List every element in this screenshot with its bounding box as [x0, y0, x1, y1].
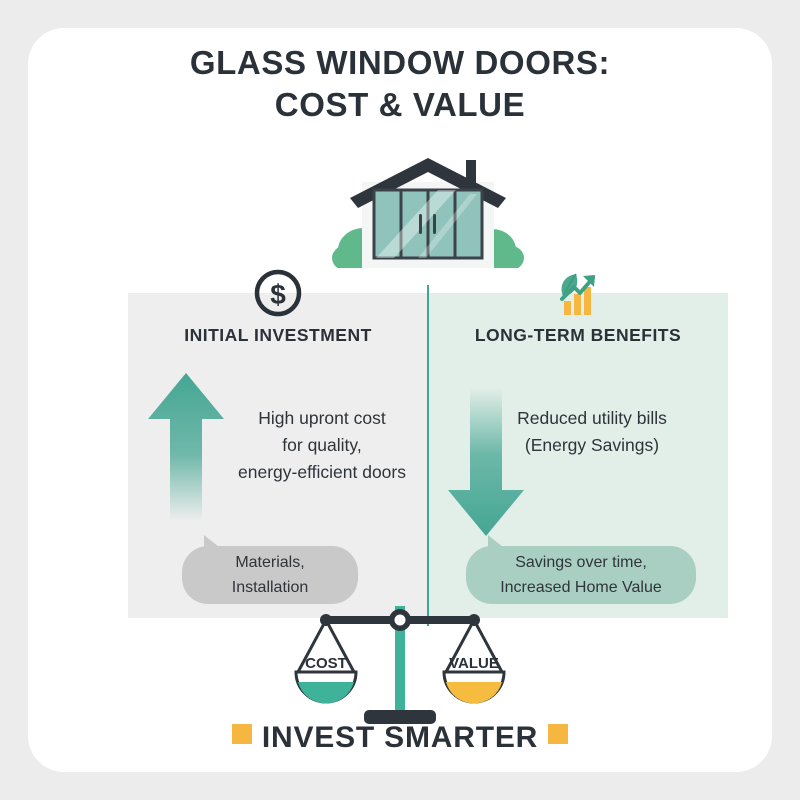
title-line-1: GLASS WINDOW DOORS: [28, 42, 772, 84]
dollar-circle-icon: $ [250, 265, 306, 321]
bubble-line: Increased Home Value [500, 579, 662, 596]
bubble-text: Savings over time, Increased Home Value [500, 550, 662, 600]
body-line: High upront cost [224, 405, 420, 432]
bubble-line: Savings over time, [515, 554, 647, 571]
comparison-panels: $ INITIAL INVESTMENT LONG-TERM BENEFITS [128, 293, 728, 618]
scale-left-label: COST [305, 655, 347, 672]
bubble-tail [488, 535, 508, 551]
scale-right-label: VALUE [449, 655, 499, 672]
house-with-glass-doors-icon [320, 154, 536, 268]
column-body-initial-investment: High upront cost for quality, energy-eff… [224, 405, 420, 486]
bubble-long-term-benefits: Savings over time, Increased Home Value [466, 546, 696, 604]
column-body-long-term-benefits: Reduced utility bills (Energy Savings) [492, 405, 692, 459]
leaf-growth-chart-icon [550, 265, 606, 321]
page-title: GLASS WINDOW DOORS: COST & VALUE [28, 42, 772, 126]
footer-text: INVEST SMARTER [28, 716, 772, 760]
body-line: Reduced utility bills [492, 405, 692, 432]
bubble-initial-investment: Materials, Installation [182, 546, 358, 604]
bubble-line: Materials, [235, 554, 304, 571]
footer: INVEST SMARTER [28, 716, 772, 772]
bubble-text: Materials, Installation [232, 550, 309, 600]
svg-text:$: $ [270, 279, 286, 310]
balance-scale-icon: COST VALUE [292, 598, 508, 726]
infographic-card: GLASS WINDOW DOORS: COST & VALUE [28, 28, 772, 772]
body-line: for quality, [224, 432, 420, 459]
body-line: energy-efficient doors [224, 459, 420, 486]
bubble-tail [204, 535, 224, 551]
arrow-up-icon [146, 371, 226, 521]
body-line: (Energy Savings) [492, 432, 692, 459]
column-heading-initial-investment: INITIAL INVESTMENT [128, 325, 428, 346]
column-heading-long-term-benefits: LONG-TERM BENEFITS [428, 325, 728, 346]
bubble-line: Installation [232, 579, 309, 596]
title-line-2: COST & VALUE [28, 84, 772, 126]
